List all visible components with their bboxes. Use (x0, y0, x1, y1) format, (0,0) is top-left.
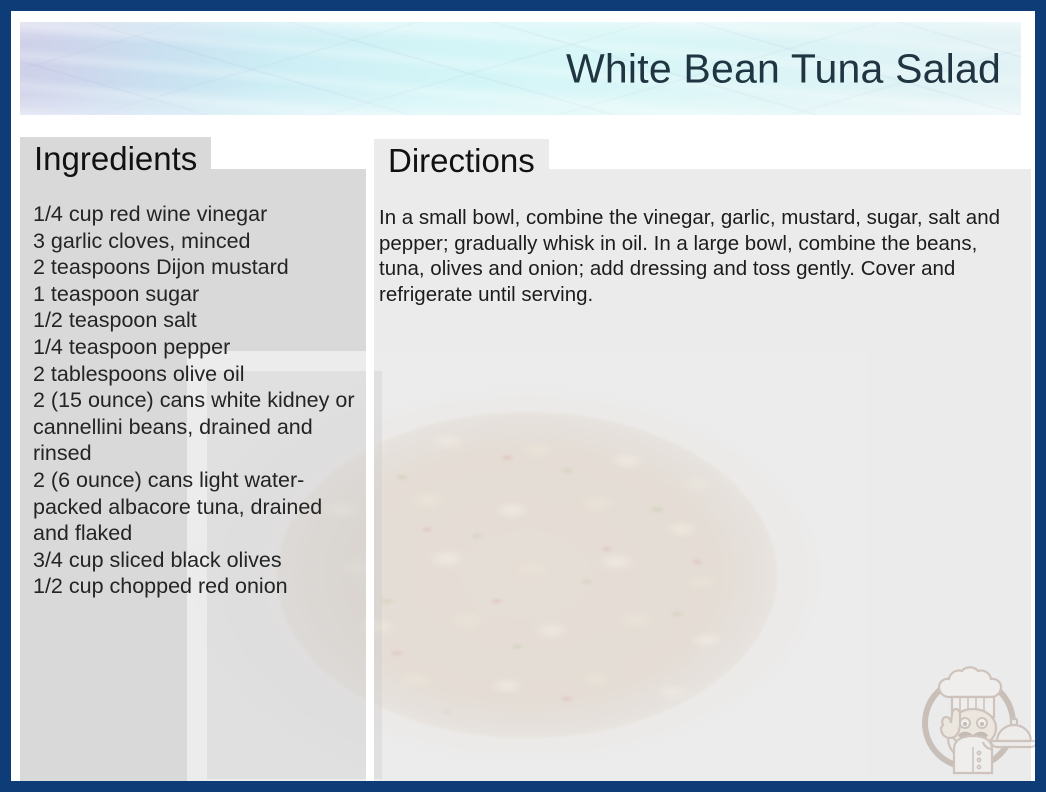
list-item: 2 tablespoons olive oil (33, 361, 363, 388)
title-banner: White Bean Tuna Salad (20, 22, 1021, 115)
list-item: 1/2 cup chopped red onion (33, 573, 363, 600)
list-item: 3 garlic cloves, minced (33, 228, 363, 255)
list-item: 1/4 cup red wine vinegar (33, 201, 363, 228)
panel-gutter (366, 169, 374, 781)
slide-canvas: White Bean Tuna Salad Ingredients Direct… (11, 11, 1035, 781)
photo-overlay-right (382, 371, 847, 779)
list-item: 2 teaspoons Dijon mustard (33, 254, 363, 281)
ingredients-list: 1/4 cup red wine vinegar 3 garlic cloves… (33, 201, 363, 600)
list-item: 1/4 teaspoon pepper (33, 334, 363, 361)
directions-body: In a small bowl, combine the vinegar, ga… (379, 205, 1027, 307)
list-item: 1/2 teaspoon salt (33, 307, 363, 334)
chef-with-cloche-logo (907, 653, 1035, 781)
list-item: 3/4 cup sliced black olives (33, 547, 363, 574)
list-item: 2 (15 ounce) cans white kidney or cannel… (33, 387, 363, 467)
page-title: White Bean Tuna Salad (566, 46, 1001, 91)
recipe-card-slide: White Bean Tuna Salad Ingredients Direct… (0, 0, 1046, 792)
ingredients-heading-tab: Ingredients (20, 137, 211, 181)
directions-heading-tab: Directions (374, 139, 549, 182)
list-item: 1 teaspoon sugar (33, 281, 363, 308)
list-item: 2 (6 ounce) cans light water-packed alba… (33, 467, 363, 547)
